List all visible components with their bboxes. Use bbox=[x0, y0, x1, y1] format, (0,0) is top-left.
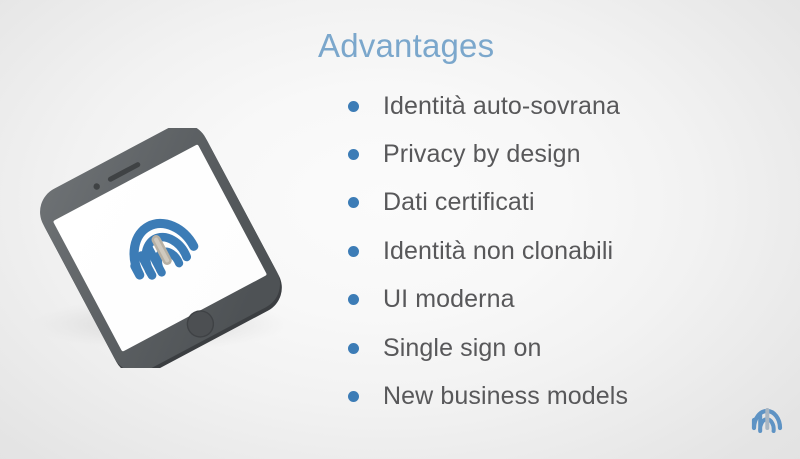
bullet-dot-icon bbox=[348, 343, 359, 354]
list-item-label: Identità auto-sovrana bbox=[383, 92, 620, 121]
list-item-label: Single sign on bbox=[383, 334, 541, 363]
bullet-dot-icon bbox=[348, 149, 359, 160]
bullet-dot-icon bbox=[348, 246, 359, 257]
bullet-dot-icon bbox=[348, 101, 359, 112]
list-item-label: Privacy by design bbox=[383, 140, 581, 169]
list-item: Identità non clonabili bbox=[348, 227, 798, 275]
phone-graphic bbox=[0, 128, 320, 368]
list-item: Single sign on bbox=[348, 324, 798, 372]
brand-logo bbox=[745, 389, 789, 441]
advantages-list: Identità auto-sovrana Privacy by design … bbox=[348, 82, 798, 421]
list-item-label: UI moderna bbox=[383, 285, 515, 314]
list-item: Privacy by design bbox=[348, 130, 798, 178]
list-item: UI moderna bbox=[348, 276, 798, 324]
phone-illustration bbox=[0, 128, 320, 368]
list-item: New business models bbox=[348, 372, 798, 420]
bullet-dot-icon bbox=[348, 197, 359, 208]
list-item-label: New business models bbox=[383, 382, 628, 411]
list-item-label: Identità non clonabili bbox=[383, 237, 613, 266]
fingerprint-logo-icon bbox=[745, 389, 789, 441]
bullet-dot-icon bbox=[348, 391, 359, 402]
content-column: Advantages Identità auto-sovrana Privacy… bbox=[310, 0, 800, 459]
list-item-label: Dati certificati bbox=[383, 188, 535, 217]
list-item: Identità auto-sovrana bbox=[348, 82, 798, 130]
slide: Advantages Identità auto-sovrana Privacy… bbox=[0, 0, 800, 459]
list-item: Dati certificati bbox=[348, 179, 798, 227]
page-title: Advantages bbox=[318, 27, 494, 65]
bullet-dot-icon bbox=[348, 294, 359, 305]
